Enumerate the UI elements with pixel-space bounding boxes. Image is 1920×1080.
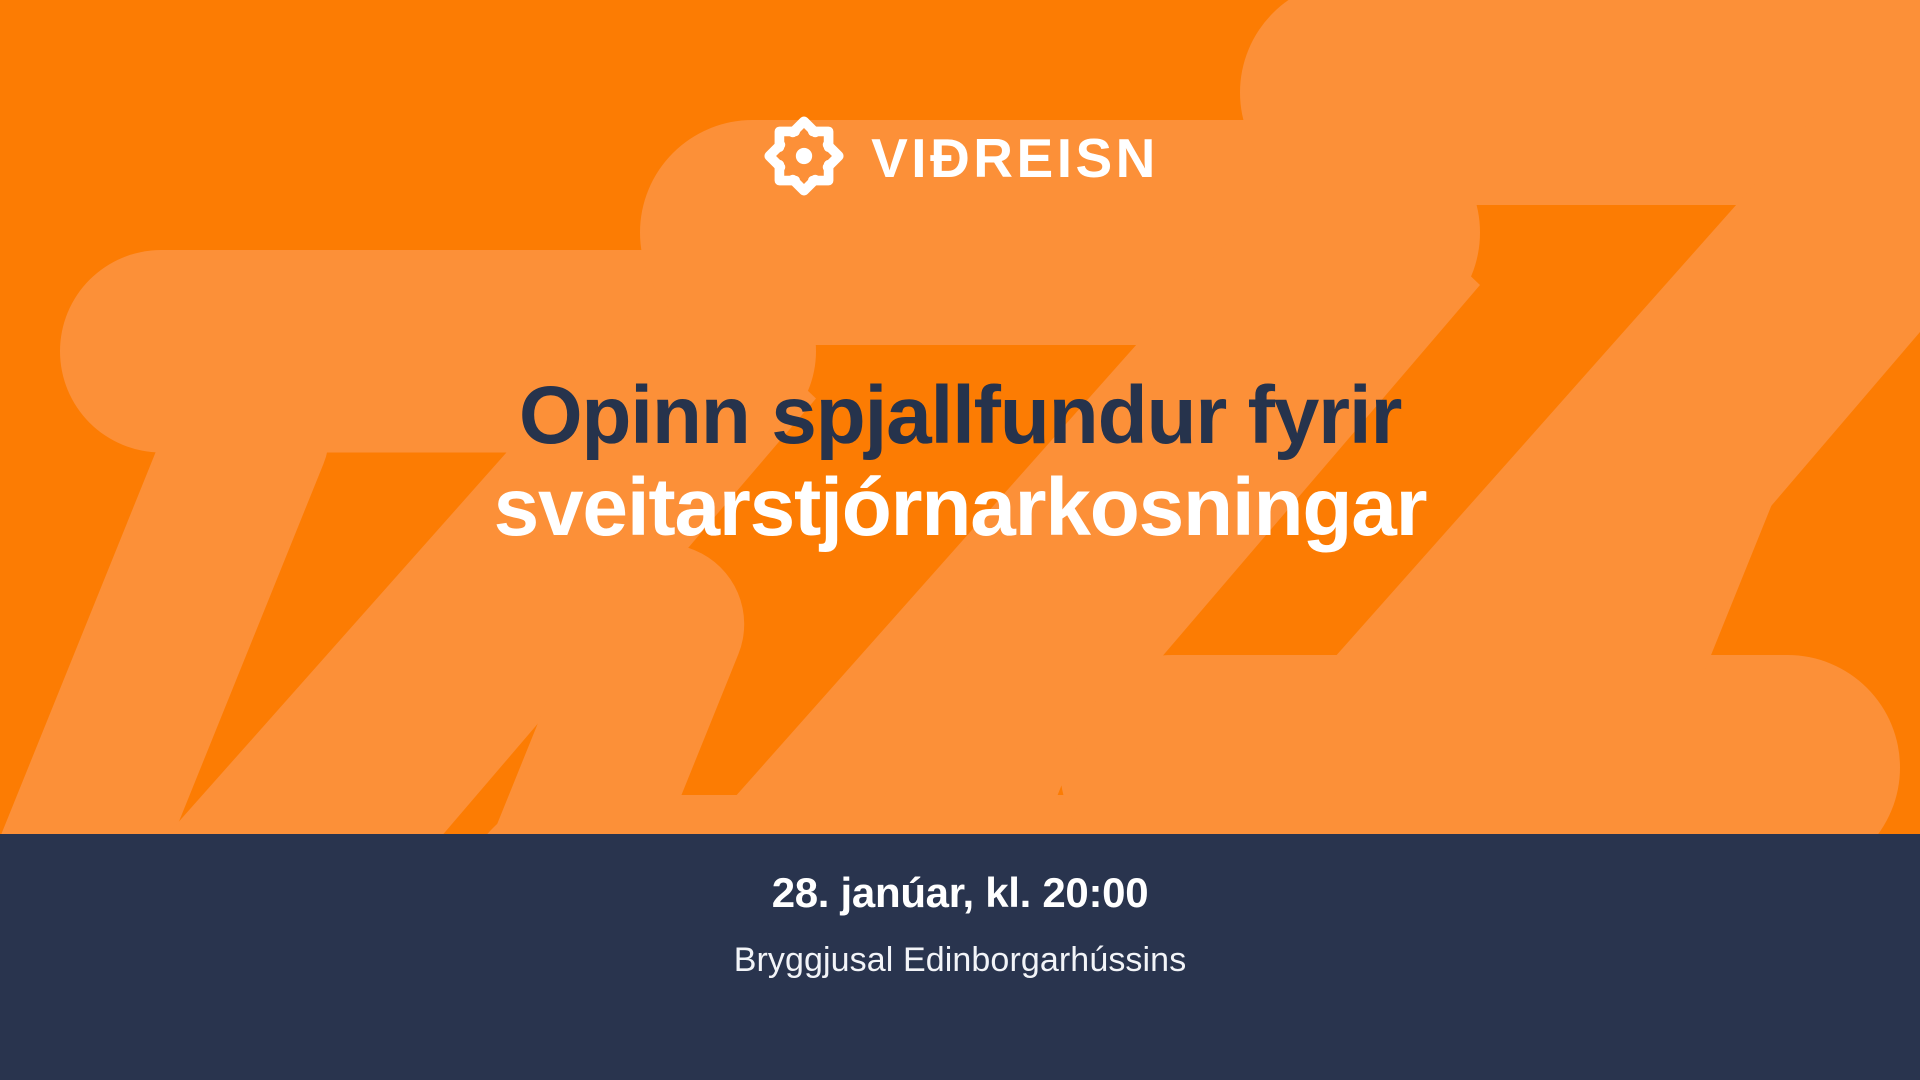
hero-section: VIÐREISN Opinn spjallfundur fyrir sveita…: [0, 0, 1920, 834]
headline-block: Opinn spjallfundur fyrir sveitarstjórnar…: [0, 370, 1920, 554]
event-poster: VIÐREISN Opinn spjallfundur fyrir sveita…: [0, 0, 1920, 1080]
event-datetime: 28. janúar, kl. 20:00: [772, 868, 1149, 918]
brand-wordmark: VIÐREISN: [871, 127, 1159, 186]
event-details-bar: 28. janúar, kl. 20:00 Bryggjusal Edinbor…: [0, 834, 1920, 1080]
event-venue: Bryggjusal Edinborgarhússins: [734, 940, 1187, 981]
brand-logo-lockup: VIÐREISN: [0, 96, 1920, 216]
eight-point-star-icon: [761, 113, 847, 199]
headline-line-1: Opinn spjallfundur fyrir: [120, 370, 1800, 462]
headline-line-2: sveitarstjórnarkosningar: [120, 462, 1800, 554]
